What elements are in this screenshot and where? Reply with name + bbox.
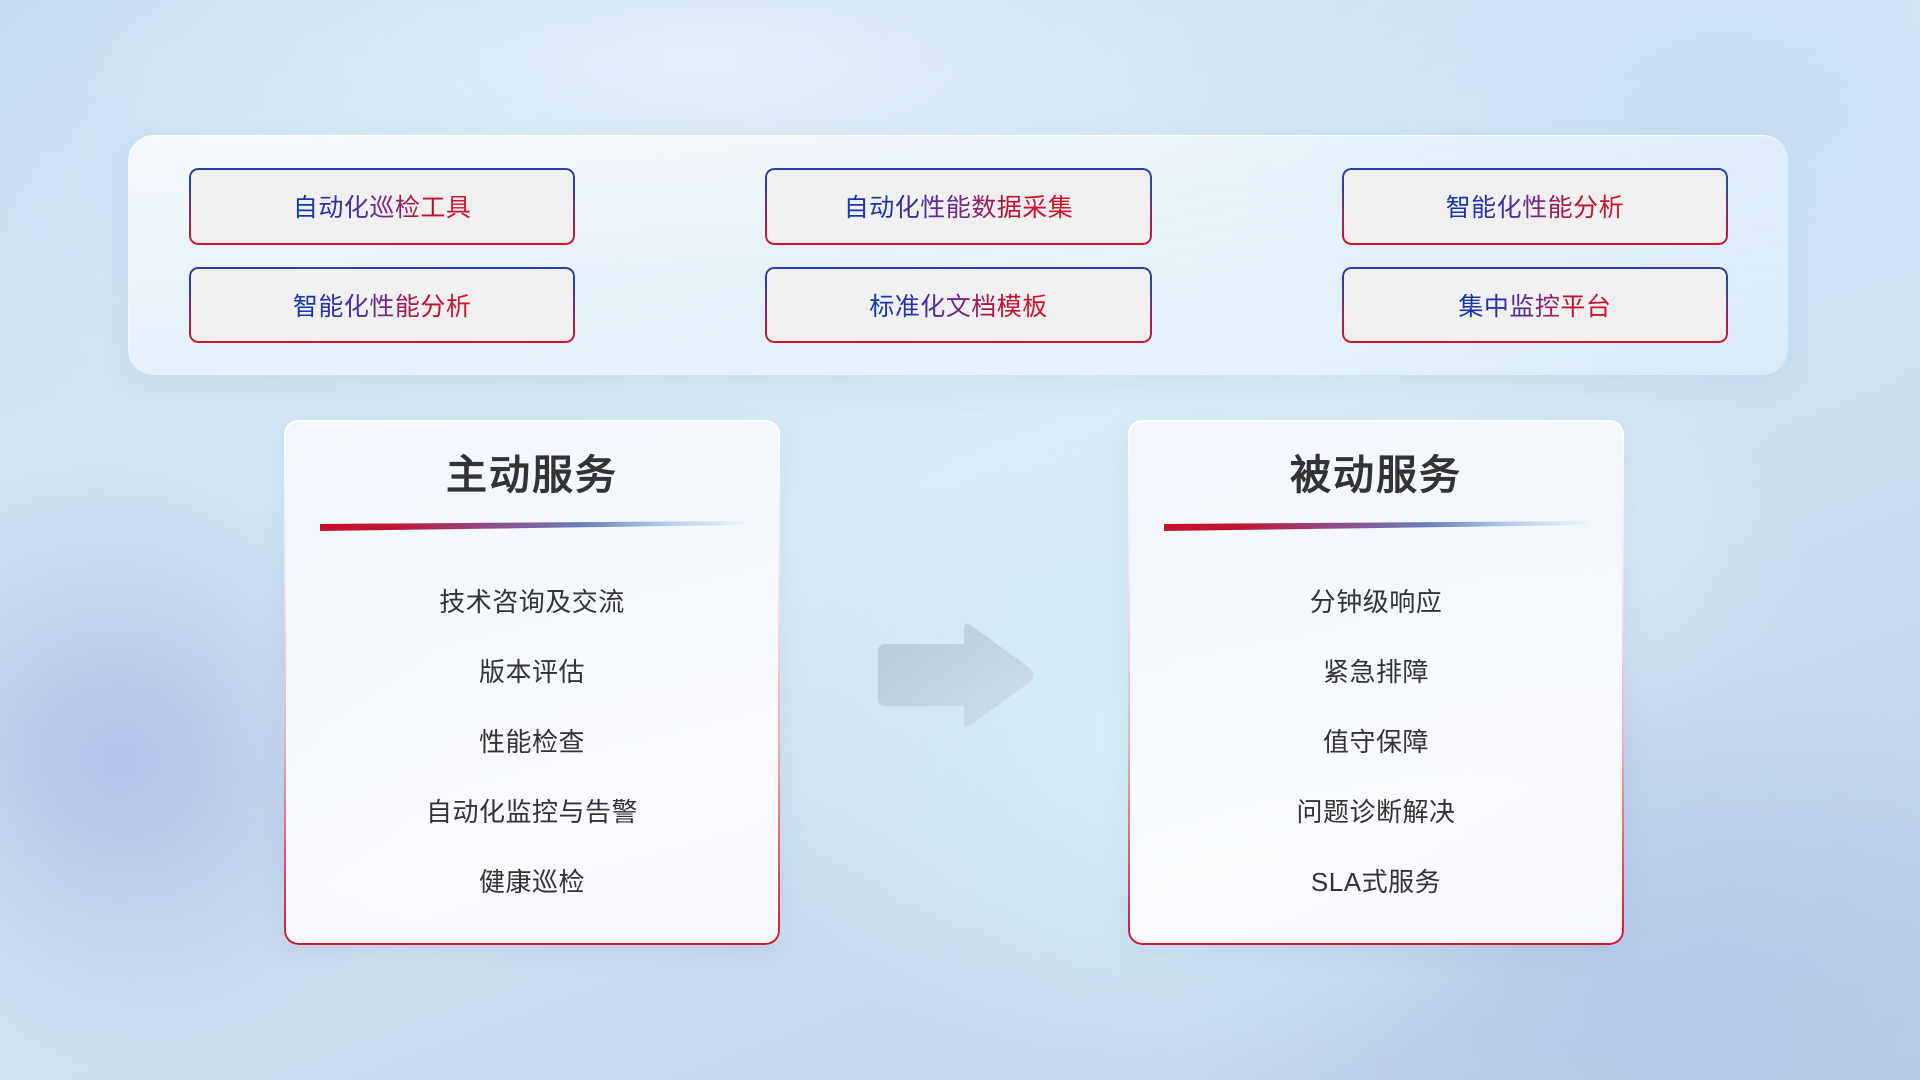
capability-panel: 自动化巡检工具 自动化性能数据采集 智能化性能分析 智能化性能分析 标准化文档模…	[128, 135, 1788, 375]
capability-chip-automated-performance-data-collection[interactable]: 自动化性能数据采集	[765, 168, 1151, 245]
card-divider	[320, 521, 744, 533]
capability-chip-label: 标准化文档模板	[869, 287, 1048, 323]
capability-chip-intelligent-performance-analysis-top[interactable]: 智能化性能分析	[1342, 168, 1728, 245]
capability-chip-automated-inspection-tool[interactable]: 自动化巡检工具	[189, 168, 575, 245]
list-item: 健康巡检	[314, 847, 750, 917]
service-card-passive: 被动服务 分钟级响应 紧急排障 值守保障 问题诊断解决 SLA式服务	[1128, 420, 1624, 945]
capability-chip-standardized-document-template[interactable]: 标准化文档模板	[765, 267, 1151, 344]
list-item: 紧急排障	[1158, 637, 1594, 707]
service-list-passive: 分钟级响应 紧急排障 值守保障 问题诊断解决 SLA式服务	[1158, 567, 1594, 917]
capability-chip-label: 智能化性能分析	[293, 287, 472, 323]
list-item: SLA式服务	[1158, 847, 1594, 917]
card-divider	[1164, 521, 1588, 533]
list-item: 技术咨询及交流	[314, 567, 750, 637]
service-card-active: 主动服务 技术咨询及交流 版本评估 性能检查 自动化监控与告警 健康巡检	[284, 420, 780, 945]
capability-chip-label: 智能化性能分析	[1446, 188, 1625, 224]
capability-chip-centralized-monitoring-platform[interactable]: 集中监控平台	[1342, 267, 1728, 344]
list-item: 自动化监控与告警	[314, 777, 750, 847]
arrow-right-icon	[872, 620, 1037, 730]
capability-chip-intelligent-performance-analysis-bottom[interactable]: 智能化性能分析	[189, 267, 575, 344]
card-title: 主动服务	[314, 452, 750, 499]
list-item: 版本评估	[314, 637, 750, 707]
list-item: 问题诊断解决	[1158, 777, 1594, 847]
card-title: 被动服务	[1158, 452, 1594, 499]
capability-chip-label: 自动化巡检工具	[293, 188, 472, 224]
capability-chip-label: 集中监控平台	[1458, 287, 1611, 323]
capability-chip-label: 自动化性能数据采集	[844, 188, 1074, 224]
capability-chip-grid: 自动化巡检工具 自动化性能数据采集 智能化性能分析 智能化性能分析 标准化文档模…	[189, 168, 1728, 343]
service-list-active: 技术咨询及交流 版本评估 性能检查 自动化监控与告警 健康巡检	[314, 567, 750, 917]
list-item: 值守保障	[1158, 707, 1594, 777]
list-item: 性能检查	[314, 707, 750, 777]
list-item: 分钟级响应	[1158, 567, 1594, 637]
